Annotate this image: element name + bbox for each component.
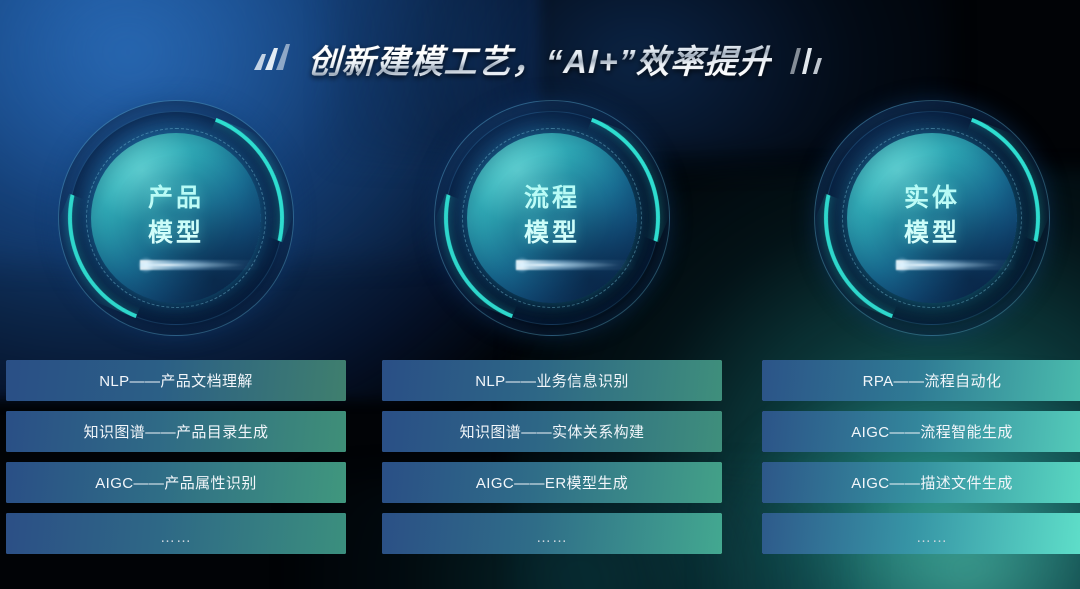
list-item[interactable]: AIGC——描述文件生成 [762, 462, 1080, 503]
list-item-label: …… [160, 529, 192, 546]
column-entity-model: 实体 模型 RPA——流程自动化 AIGC——流程智能生成 AIGC——描述文件… [762, 100, 1080, 564]
badge-product-model[interactable]: 产品 模型 [58, 100, 294, 336]
list-item-ellipsis[interactable]: …… [382, 513, 722, 554]
list-item-label: AIGC——ER模型生成 [476, 472, 628, 493]
list-item[interactable]: AIGC——流程智能生成 [762, 411, 1080, 452]
list-item-label: …… [916, 529, 948, 546]
list-item-label: 知识图谱——产品目录生成 [84, 421, 269, 442]
badge-label-line1: 流程 [524, 183, 580, 214]
list-item[interactable]: NLP——产品文档理解 [6, 360, 346, 401]
list-item[interactable]: 知识图谱——产品目录生成 [6, 411, 346, 452]
list-item-label: NLP——产品文档理解 [99, 370, 253, 391]
badge-label: 实体 模型 [814, 100, 1050, 336]
item-list-process-model: NLP——业务信息识别 知识图谱——实体关系构建 AIGC——ER模型生成 …… [382, 360, 722, 554]
badge-label-line2: 模型 [904, 218, 960, 249]
badge-label-line1: 实体 [904, 183, 960, 214]
list-item[interactable]: AIGC——产品属性识别 [6, 462, 346, 503]
list-item-label: AIGC——描述文件生成 [851, 472, 1012, 493]
badge-process-model[interactable]: 流程 模型 [434, 100, 670, 336]
badge-label-line2: 模型 [524, 218, 580, 249]
badge-label-line2: 模型 [148, 218, 204, 249]
list-item-label: AIGC——流程智能生成 [851, 421, 1012, 442]
badge-label-line1: 产品 [148, 183, 204, 214]
list-item[interactable]: RPA——流程自动化 [762, 360, 1080, 401]
slide-canvas: 创新建模工艺，“AI+”效率提升 [0, 0, 1080, 589]
list-item-label: …… [536, 529, 568, 546]
columns-container: 产品 模型 NLP——产品文档理解 知识图谱——产品目录生成 AIGC——产品属… [0, 0, 1080, 589]
list-item-label: AIGC——产品属性识别 [95, 472, 256, 493]
list-item-ellipsis[interactable]: …… [6, 513, 346, 554]
list-item-ellipsis[interactable]: …… [762, 513, 1080, 554]
item-list-product-model: NLP——产品文档理解 知识图谱——产品目录生成 AIGC——产品属性识别 …… [6, 360, 346, 554]
badge-label: 产品 模型 [58, 100, 294, 336]
badge-entity-model[interactable]: 实体 模型 [814, 100, 1050, 336]
list-item-label: NLP——业务信息识别 [475, 370, 629, 391]
badge-label: 流程 模型 [434, 100, 670, 336]
column-product-model: 产品 模型 NLP——产品文档理解 知识图谱——产品目录生成 AIGC——产品属… [6, 100, 346, 564]
item-list-entity-model: RPA——流程自动化 AIGC——流程智能生成 AIGC——描述文件生成 …… [762, 360, 1080, 554]
list-item-label: 知识图谱——实体关系构建 [460, 421, 645, 442]
list-item[interactable]: AIGC——ER模型生成 [382, 462, 722, 503]
column-process-model: 流程 模型 NLP——业务信息识别 知识图谱——实体关系构建 AIGC——ER模… [382, 100, 722, 564]
list-item[interactable]: NLP——业务信息识别 [382, 360, 722, 401]
list-item-label: RPA——流程自动化 [863, 370, 1002, 391]
list-item[interactable]: 知识图谱——实体关系构建 [382, 411, 722, 452]
